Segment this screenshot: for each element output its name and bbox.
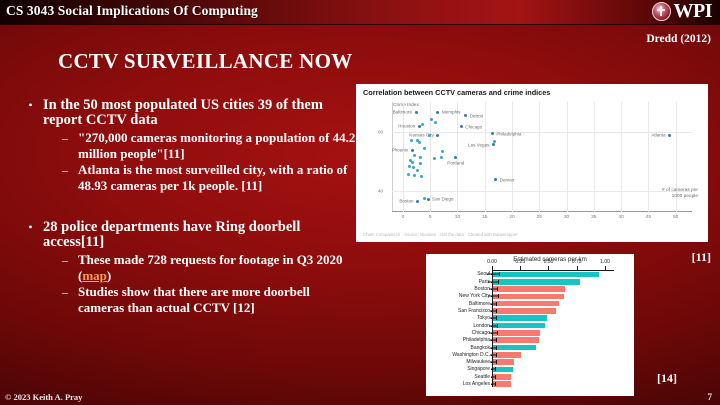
- bar-row: Seattle: [493, 374, 511, 380]
- bar-category-tick: [491, 340, 493, 341]
- bar-category-tick: [491, 333, 493, 334]
- bar-error-cap: [496, 338, 497, 342]
- wpi-logo: WPI: [652, 1, 713, 21]
- bar-segment: [493, 308, 556, 314]
- bar-category-label: Chicago: [472, 330, 493, 336]
- bar-category-tick: [491, 384, 493, 385]
- scatter-point: [420, 175, 423, 178]
- scatter-point: [411, 149, 414, 152]
- scatter-x-tick-label: 20: [509, 215, 514, 220]
- bar-error-cap: [497, 324, 498, 328]
- bar-category-tick: [491, 348, 493, 349]
- scatter-point: [418, 141, 421, 144]
- scatter-point: [441, 150, 444, 153]
- bar-category-label: Bangkok: [471, 345, 493, 351]
- bar-segment: [493, 337, 539, 343]
- page-title: CCTV SURVEILLANCE NOW: [58, 49, 353, 74]
- bar-error-cap: [497, 287, 498, 291]
- scatter-point: [411, 161, 414, 164]
- bar-row: Bangkok: [493, 345, 536, 351]
- wpi-seal-icon: [652, 2, 671, 21]
- bullet-marker: –: [62, 130, 72, 162]
- bar-x-tick-label: 0.50: [544, 259, 554, 265]
- bar-category-label: New York City: [459, 293, 493, 299]
- bullet-text-before: These made 728 requests for footage in Q…: [78, 252, 343, 283]
- bullet-text: In the 50 most populated US cities 39 of…: [43, 98, 356, 128]
- scatter-reference-tag: [11]: [692, 250, 711, 265]
- bar-x-tick: [548, 266, 549, 270]
- scatter-point-label: Houston: [398, 124, 415, 129]
- list-item: • 28 police departments have Ring doorbe…: [26, 220, 356, 250]
- bullet-marker: –: [62, 162, 72, 194]
- bar-row: Philadelphia: [493, 337, 539, 343]
- bar-segment: [493, 279, 580, 285]
- scatter-point: [413, 174, 416, 177]
- scatter-point: [423, 147, 426, 150]
- scatter-gridline: [539, 102, 540, 212]
- list-item: – Studies show that there are more doorb…: [62, 284, 356, 316]
- scatter-point: [416, 169, 419, 172]
- bar-segment: [493, 315, 547, 321]
- scatter-point-label: Las Vegas: [468, 142, 489, 147]
- bar-category-tick: [491, 282, 493, 283]
- bar-x-tick-label: 0.25: [515, 259, 525, 265]
- bar-row: Boston: [493, 286, 565, 292]
- scatter-plot-area: BaltimoreMemphisDetroitHoustonChicagoKan…: [392, 102, 692, 212]
- scatter-y-tick-label: 60: [378, 129, 383, 134]
- bar-row: Seoul: [493, 272, 599, 278]
- bar-segment: [493, 294, 564, 300]
- scatter-point: [440, 156, 443, 159]
- bar-row: Paris: [493, 279, 580, 285]
- bullet-marker: •: [26, 220, 35, 250]
- bar-error-cap: [498, 280, 499, 284]
- scatter-point: [494, 178, 497, 181]
- bar-segment: [493, 301, 559, 307]
- bullet-text: Studies show that there are more doorbel…: [78, 284, 356, 316]
- scatter-credit: Chart: Comparitech · Source: Numbeo · Ge…: [363, 232, 518, 237]
- bar-segment: [493, 272, 599, 278]
- scatter-point: [413, 154, 416, 157]
- bar-category-tick: [491, 318, 493, 319]
- scatter-gridline: [457, 102, 458, 212]
- bar-error-cap: [496, 302, 497, 306]
- list-item: – Atlanta is the most surveilled city, w…: [62, 162, 356, 194]
- bar-category-tick: [491, 369, 493, 370]
- bar-row: San Francisco: [493, 308, 556, 314]
- bar-x-tick-label: 0.00: [487, 259, 497, 265]
- scatter-point: [430, 118, 433, 121]
- bar-error-cap: [497, 331, 498, 335]
- bar-category-label: Milwaukee: [466, 359, 493, 365]
- scatter-point: [412, 166, 415, 169]
- wpi-wordmark: WPI: [674, 1, 713, 21]
- scatter-point-label: San Diego: [432, 197, 453, 202]
- header-band: CS 3043 Social Implications Of Computing…: [0, 0, 720, 25]
- bullet-text: Atlanta is the most surveilled city, wit…: [78, 162, 356, 194]
- bar-row: Chicago: [493, 330, 540, 336]
- scatter-gridline: [392, 132, 692, 133]
- bar-category-tick: [491, 296, 493, 297]
- scatter-gridline: [485, 102, 486, 212]
- scatter-x-tick-label: 35: [591, 215, 596, 220]
- bar-row: Los Angeles: [493, 381, 511, 387]
- bullet-spacer: [26, 194, 356, 220]
- bar-segment: [493, 323, 545, 329]
- bar-x-tick: [492, 266, 493, 270]
- scatter-point: [464, 114, 467, 117]
- scatter-point: [433, 157, 436, 160]
- list-item: • In the 50 most populated US cities 39 …: [26, 98, 356, 128]
- bar-segment: [493, 286, 565, 292]
- bar-category-tick: [491, 304, 493, 305]
- scatter-point-label: Atlanta: [651, 133, 665, 138]
- bar-x-tick: [520, 266, 521, 270]
- scatter-x-tick-label: 0: [402, 215, 405, 220]
- bar-row: London: [493, 323, 545, 329]
- bar-category-tick: [491, 362, 493, 363]
- course-title: CS 3043 Social Implications Of Computing: [6, 3, 258, 19]
- scatter-point: [493, 140, 496, 143]
- scatter-gridline: [392, 191, 692, 192]
- bar-error-cap: [495, 367, 496, 371]
- scatter-point-label: Denver: [500, 177, 515, 182]
- list-item: – These made 728 requests for footage in…: [62, 252, 356, 284]
- scatter-point-label: Memphis: [442, 110, 461, 115]
- bar-error-cap: [496, 353, 497, 357]
- bar-category-tick: [491, 274, 493, 275]
- scatter-x-axis: [392, 211, 692, 212]
- scatter-point: [421, 123, 424, 126]
- bar-error-cap: [496, 346, 497, 350]
- scatter-x-tick-label: 15: [482, 215, 487, 220]
- scatter-gridline: [403, 102, 404, 212]
- bar-segment: [493, 345, 536, 351]
- bar-row: Washington D.C.: [493, 352, 521, 358]
- bar-error-cap: [495, 375, 496, 379]
- bar-chart-panel: Estimated cameras per km 0.000.250.500.7…: [426, 254, 634, 396]
- bar-category-label: San Francisco: [458, 308, 493, 314]
- scatter-y-axis: [392, 102, 393, 212]
- scatter-point-label: Boston: [399, 199, 413, 204]
- bar-row: Milwaukee: [493, 359, 514, 365]
- scatter-x-tick-label: 25: [537, 215, 542, 220]
- scatter-chart-panel: Correlation between CCTV cameras and cri…: [356, 84, 708, 242]
- scatter-point: [419, 156, 422, 159]
- scatter-y-tick-label: 40: [378, 189, 383, 194]
- scatter-point: [428, 134, 431, 137]
- slide: CS 3043 Social Implications Of Computing…: [0, 0, 720, 405]
- scatter-gridline: [621, 102, 622, 212]
- bar-error-cap: [495, 382, 496, 386]
- scatter-point: [408, 165, 411, 168]
- scatter-gridline: [512, 102, 513, 212]
- bar-error-cap: [496, 316, 497, 320]
- scatter-point: [427, 198, 430, 201]
- bar-category-label: Baltimore: [469, 301, 493, 307]
- scatter-point: [436, 111, 439, 114]
- scatter-point-label: Detroit: [470, 113, 484, 118]
- scatter-x-axis-label: # of cameras per1000 people: [662, 188, 698, 200]
- scatter-point: [491, 132, 494, 135]
- scatter-gridline: [567, 102, 568, 212]
- bar-error-cap: [496, 309, 497, 313]
- scatter-point: [460, 125, 463, 128]
- attribution-text: Dredd (2012): [646, 33, 711, 45]
- bullet-marker: –: [62, 284, 72, 316]
- scatter-point-label: Baltimore: [393, 110, 412, 115]
- bar-category-tick: [491, 326, 493, 327]
- bullet-text: These made 728 requests for footage in Q…: [78, 252, 356, 284]
- scatter-point: [423, 197, 426, 200]
- bar-row: Singapore: [493, 367, 513, 373]
- bar-category-label: Philadelphia: [463, 337, 493, 343]
- bar-category-tick: [491, 377, 493, 378]
- bar-row: New York City: [493, 294, 564, 300]
- bar-error-cap: [498, 294, 499, 298]
- bar-x-tick-label: 0.75: [572, 259, 582, 265]
- map-link[interactable]: map: [82, 268, 107, 283]
- scatter-chart-title: Correlation between CCTV cameras and cri…: [363, 88, 550, 97]
- bullet-marker: –: [62, 252, 72, 284]
- bar-category-tick: [491, 311, 493, 312]
- scatter-point-label: Phoenix: [392, 148, 409, 153]
- bullet-text: "270,000 cameras monitoring a population…: [78, 130, 356, 162]
- scatter-x-tick-label: 5: [429, 215, 432, 220]
- scatter-gridline: [594, 102, 595, 212]
- scatter-point: [410, 139, 413, 142]
- copyright-text: © 2023 Keith A. Pray: [5, 392, 82, 402]
- scatter-point: [407, 173, 410, 176]
- page-number: 7: [708, 392, 713, 402]
- bar-x-tick: [577, 266, 578, 270]
- scatter-point: [434, 121, 437, 124]
- scatter-point-label: Chicago: [465, 124, 482, 129]
- bullet-text: 28 police departments have Ring doorbell…: [43, 220, 356, 250]
- scatter-x-tick-label: 50: [673, 215, 678, 220]
- bar-reference-tag: [14]: [657, 371, 677, 386]
- scatter-point-label: Philadelphia: [496, 131, 521, 136]
- scatter-x-tick-label: 10: [455, 215, 460, 220]
- scatter-point: [668, 134, 671, 137]
- bar-x-tick: [605, 266, 606, 270]
- scatter-x-tick-label: 45: [646, 215, 651, 220]
- scatter-x-tick-label: 30: [564, 215, 569, 220]
- bar-error-cap: [496, 360, 497, 364]
- scatter-point-label: Portland: [447, 161, 464, 166]
- bar-segment: [493, 330, 540, 336]
- bar-row: Baltimore: [493, 301, 559, 307]
- bar-x-tick-label: 1.00: [600, 259, 610, 265]
- scatter-point: [419, 162, 422, 165]
- bar-plot-area: 0.000.250.500.751.00SeoulParisBostonNew …: [492, 270, 614, 387]
- scatter-x-tick-label: 40: [618, 215, 623, 220]
- bullet-list: • In the 50 most populated US cities 39 …: [26, 98, 356, 316]
- bar-category-label: Singapore: [467, 366, 493, 372]
- bar-row: Tokyo: [493, 315, 547, 321]
- bar-category-label: Los Angeles: [463, 381, 493, 387]
- scatter-gridline: [648, 102, 649, 212]
- scatter-point: [415, 111, 418, 114]
- bar-category-tick: [491, 289, 493, 290]
- bullet-text-after: ): [107, 268, 111, 283]
- bar-category-label: Washington D.C.: [452, 352, 493, 358]
- scatter-point: [416, 200, 419, 203]
- scatter-point: [436, 134, 439, 137]
- scatter-point: [492, 143, 495, 146]
- bullet-marker: •: [26, 98, 35, 128]
- bar-category-tick: [491, 355, 493, 356]
- bar-error-cap: [499, 272, 500, 276]
- list-item: – "270,000 cameras monitoring a populati…: [62, 130, 356, 162]
